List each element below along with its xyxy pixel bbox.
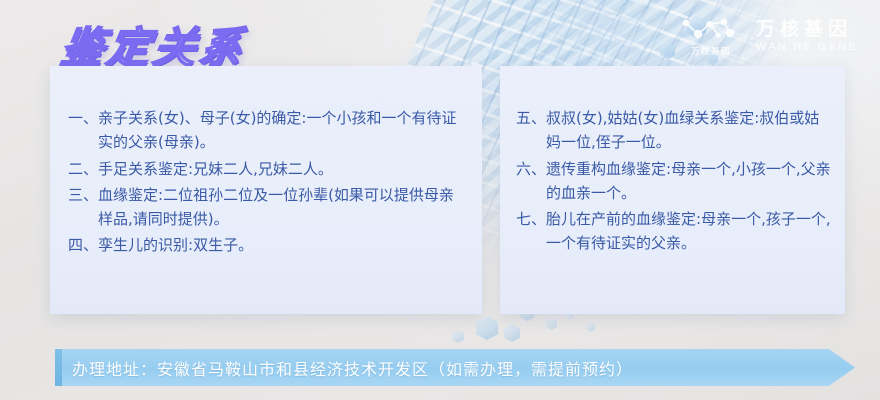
poster-root: 鉴定关系 万核基因 [0, 0, 880, 400]
list-item-number: 一、 [68, 106, 98, 130]
dna-node-molecule-icon [680, 16, 742, 42]
list-item-text: 手足关系鉴定:兄妹二人,兄妹二人。 [98, 157, 466, 181]
list-item: 二、手足关系鉴定:兄妹二人,兄妹二人。 [68, 157, 466, 181]
brand-logo: 万核基因 万核基因 WAN HE GENE [680, 16, 858, 57]
list-item-text: 叔叔(女),姑姑(女)血绿关系鉴定:叔伯或姑妈一位,侄子一位。 [546, 106, 831, 155]
brand-name-en: WAN HE GENE [756, 42, 858, 54]
list-item-text: 亲子关系(女)、母子(女)的确定:一个小孩和一个有待证实的父亲(母亲)。 [98, 106, 466, 155]
address-banner-left-edge [55, 349, 62, 386]
cube-particle-icon [488, 48, 498, 60]
list-item-number: 四、 [68, 233, 98, 257]
cube-particle-icon [452, 330, 464, 343]
list-item: 三、血缘鉴定:二位祖孙二位及一位孙辈(如果可以提供母亲样品,请同时提供)。 [68, 183, 466, 232]
cube-particle-icon [586, 322, 595, 332]
list-item-text: 胎儿在产前的血缘鉴定:母亲一个,孩子一个,一个有待证实的父亲。 [546, 207, 831, 256]
brand-wordmark: 万核基因 WAN HE GENE [756, 20, 858, 53]
relationship-list-right: 五、叔叔(女),姑姑(女)血绿关系鉴定:叔伯或姑妈一位,侄子一位。六、遗传重构血… [500, 66, 845, 256]
logo-mark-label: 万核基因 [691, 45, 731, 57]
list-item-text: 遗传重构血缘鉴定:母亲一个,小孩一个,父亲的血亲一个。 [546, 157, 831, 206]
cube-particle-icon [660, 42, 675, 59]
list-item-number: 七、 [516, 207, 546, 231]
cube-particle-icon [504, 324, 520, 342]
list-item: 四、孪生儿的识别:双生子。 [68, 233, 466, 257]
list-item: 五、叔叔(女),姑姑(女)血绿关系鉴定:叔伯或姑妈一位,侄子一位。 [516, 106, 831, 155]
address-banner-text: 办理地址：安徽省马鞍山市和县经济技术开发区（如需办理，需提前预约） [72, 349, 633, 386]
list-item-number: 六、 [516, 157, 546, 181]
relationship-list-left: 一、亲子关系(女)、母子(女)的确定:一个小孩和一个有待证实的父亲(母亲)。二、… [50, 66, 482, 258]
list-item-text: 孪生儿的识别:双生子。 [98, 233, 466, 257]
list-item: 七、胎儿在产前的血缘鉴定:母亲一个,孩子一个,一个有待证实的父亲。 [516, 207, 831, 256]
left-content-panel: 一、亲子关系(女)、母子(女)的确定:一个小孩和一个有待证实的父亲(母亲)。二、… [50, 66, 482, 314]
cube-particle-icon [546, 318, 557, 330]
right-content-panel: 五、叔叔(女),姑姑(女)血绿关系鉴定:叔伯或姑妈一位,侄子一位。六、遗传重构血… [500, 66, 845, 314]
dot-particle-icon [466, 58, 472, 64]
list-item: 一、亲子关系(女)、母子(女)的确定:一个小孩和一个有待证实的父亲(母亲)。 [68, 106, 466, 155]
list-item-number: 二、 [68, 157, 98, 181]
list-item: 六、遗传重构血缘鉴定:母亲一个,小孩一个,父亲的血亲一个。 [516, 157, 831, 206]
cube-particle-icon [476, 316, 498, 340]
list-item-number: 五、 [516, 106, 546, 130]
logo-mark: 万核基因 [680, 16, 742, 57]
list-item-number: 三、 [68, 183, 98, 207]
list-item-text: 血缘鉴定:二位祖孙二位及一位孙辈(如果可以提供母亲样品,请同时提供)。 [98, 183, 466, 232]
brand-name-cn: 万核基因 [756, 20, 858, 40]
